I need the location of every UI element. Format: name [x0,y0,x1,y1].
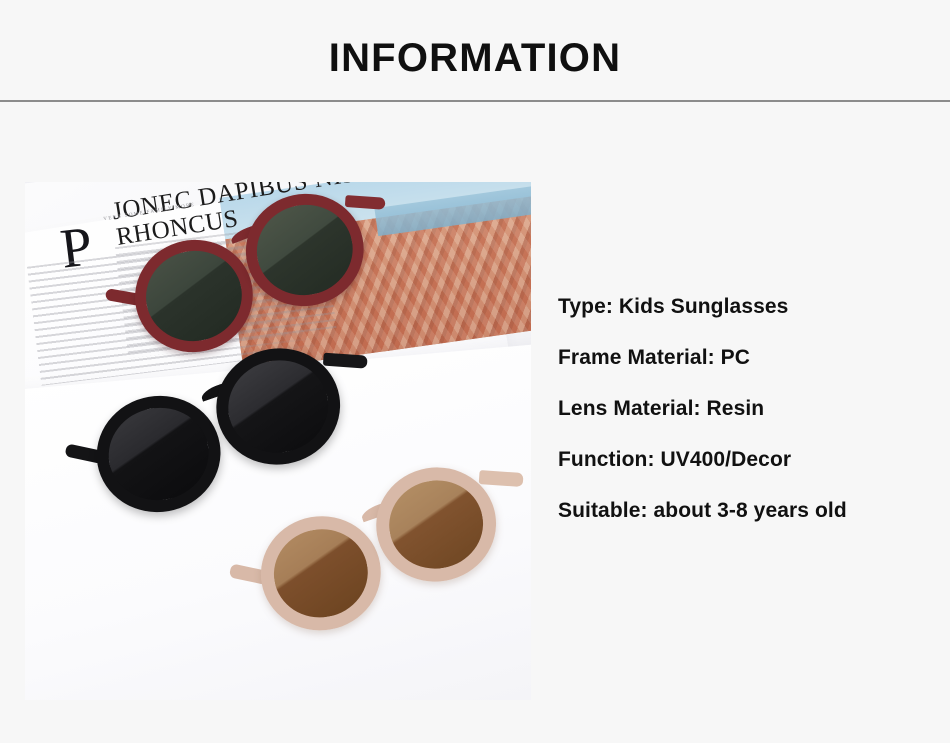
spec-type: Type: Kids Sunglasses [558,296,938,317]
spec-lens-material: Lens Material: Resin [558,398,938,419]
product-photo: JONEC DAPIBUS NIS RHONCUS VERB SOME FAMI… [25,182,531,700]
header-divider [0,100,950,102]
spec-frame-material: Frame Material: PC [558,347,938,368]
product-spec-list: Type: Kids Sunglasses Frame Material: PC… [558,296,938,521]
spec-function: Function: UV400/Decor [558,449,938,470]
page-title: INFORMATION [0,36,950,81]
spec-suitable: Suitable: about 3-8 years old [558,500,938,521]
tan-sunglasses-temple-right [479,470,524,487]
page-header: INFORMATION [0,0,950,100]
